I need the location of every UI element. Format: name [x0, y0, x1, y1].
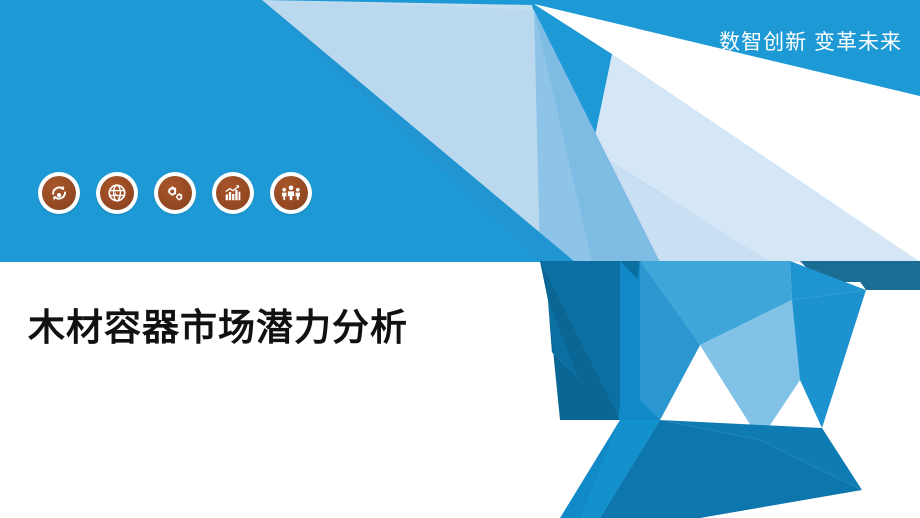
header-tagline: 数智创新 变革未来: [719, 26, 902, 56]
globe-icon: [100, 176, 134, 210]
people-group-icon: [274, 176, 308, 210]
icon-badge-bar-chart[interactable]: [212, 172, 254, 214]
icon-badge-gears[interactable]: [154, 172, 196, 214]
icon-badge-recycle[interactable]: [38, 172, 80, 214]
icon-badge-globe[interactable]: [96, 172, 138, 214]
low-poly-background-artwork: [0, 0, 920, 518]
poly-bright-right: [792, 290, 866, 428]
recycle-arrow-icon: [42, 176, 76, 210]
slide-canvas: 数智创新 变革未来: [0, 0, 920, 518]
icon-badge-people-group[interactable]: [270, 172, 312, 214]
icon-row: [38, 172, 312, 214]
gears-icon: [158, 176, 192, 210]
page-title: 木材容器市场潜力分析: [28, 297, 408, 351]
bar-chart-icon: [216, 176, 250, 210]
